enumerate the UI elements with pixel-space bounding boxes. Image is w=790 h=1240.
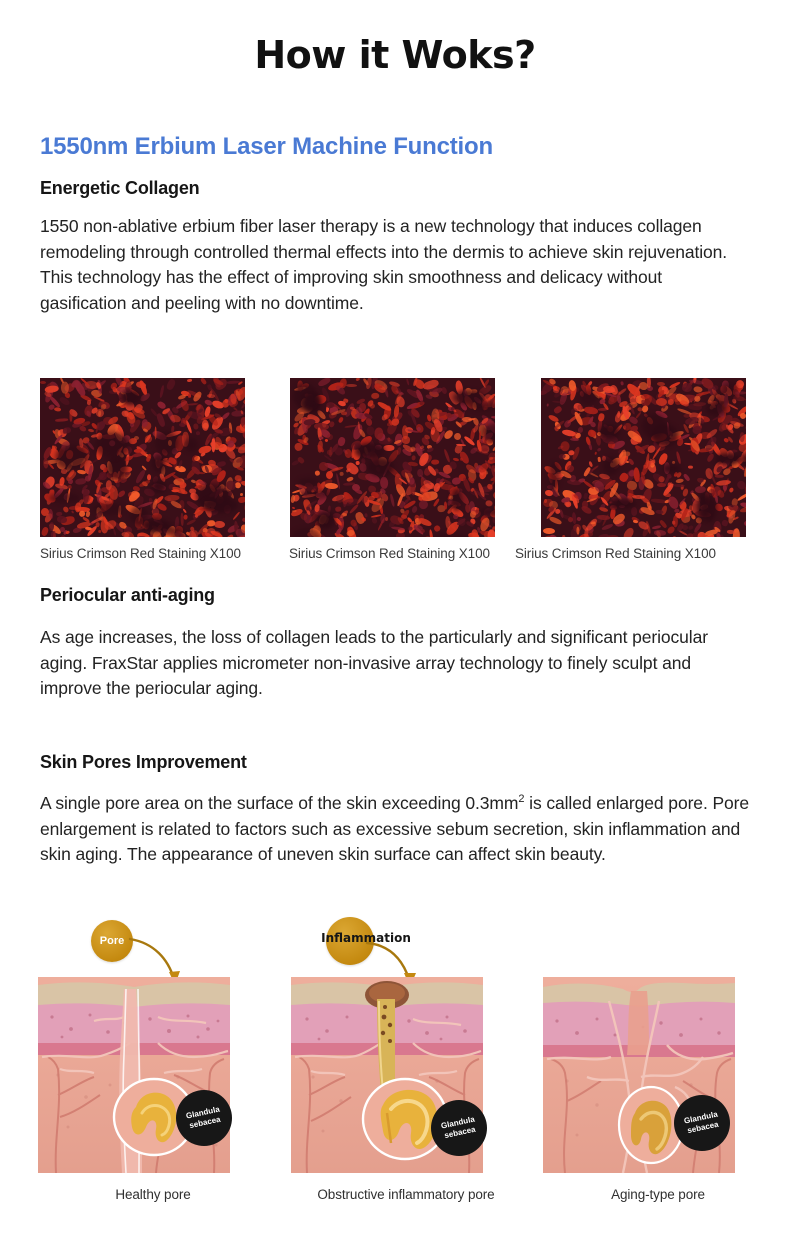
histology-cell (40, 378, 245, 537)
histology-image (541, 378, 746, 537)
pore-caption: Aging-type pore (533, 1187, 783, 1202)
histology-cell (541, 378, 746, 537)
histology-caption: Sirius Crimson Red Staining X100 (40, 546, 241, 561)
paragraph-periocular-anti-aging: As age increases, the loss of collagen l… (40, 625, 756, 702)
pore-diagram-aging: Glandula sebacea Aging-type pore (533, 915, 783, 1225)
pore-caption: Healthy pore (28, 1187, 278, 1202)
page-title: How it Woks? (0, 33, 790, 77)
histology-image (40, 378, 245, 537)
pore-diagram-healthy: Pore (28, 915, 278, 1225)
histology-image (290, 378, 495, 537)
histology-caption: Sirius Crimson Red Staining X100 (289, 546, 490, 561)
paragraph-text-prefix: A single pore area on the surface of the… (40, 793, 518, 813)
paragraph-energetic-collagen: 1550 non-ablative erbium fiber laser the… (40, 214, 752, 317)
page-root: How it Woks? 1550nm Erbium Laser Machine… (0, 0, 790, 1240)
pore-caption: Obstructive inflammatory pore (259, 1187, 553, 1202)
pore-label-bubble: Pore (91, 920, 133, 962)
heading-periocular-anti-aging: Periocular anti-aging (40, 585, 215, 606)
pore-diagram-inflammatory: Inflammation (281, 915, 531, 1225)
paragraph-skin-pores-improvement: A single pore area on the surface of the… (40, 791, 756, 868)
histology-cell (290, 378, 495, 537)
histology-image-row: Sirius Crimson Red Staining X100 Sirius … (40, 378, 746, 538)
pore-diagram-row: Pore (0, 915, 790, 1225)
heading-energetic-collagen: Energetic Collagen (40, 178, 199, 199)
heading-skin-pores-improvement: Skin Pores Improvement (40, 752, 247, 773)
section-title: 1550nm Erbium Laser Machine Function (40, 133, 493, 161)
histology-caption: Sirius Crimson Red Staining X100 (515, 546, 716, 561)
